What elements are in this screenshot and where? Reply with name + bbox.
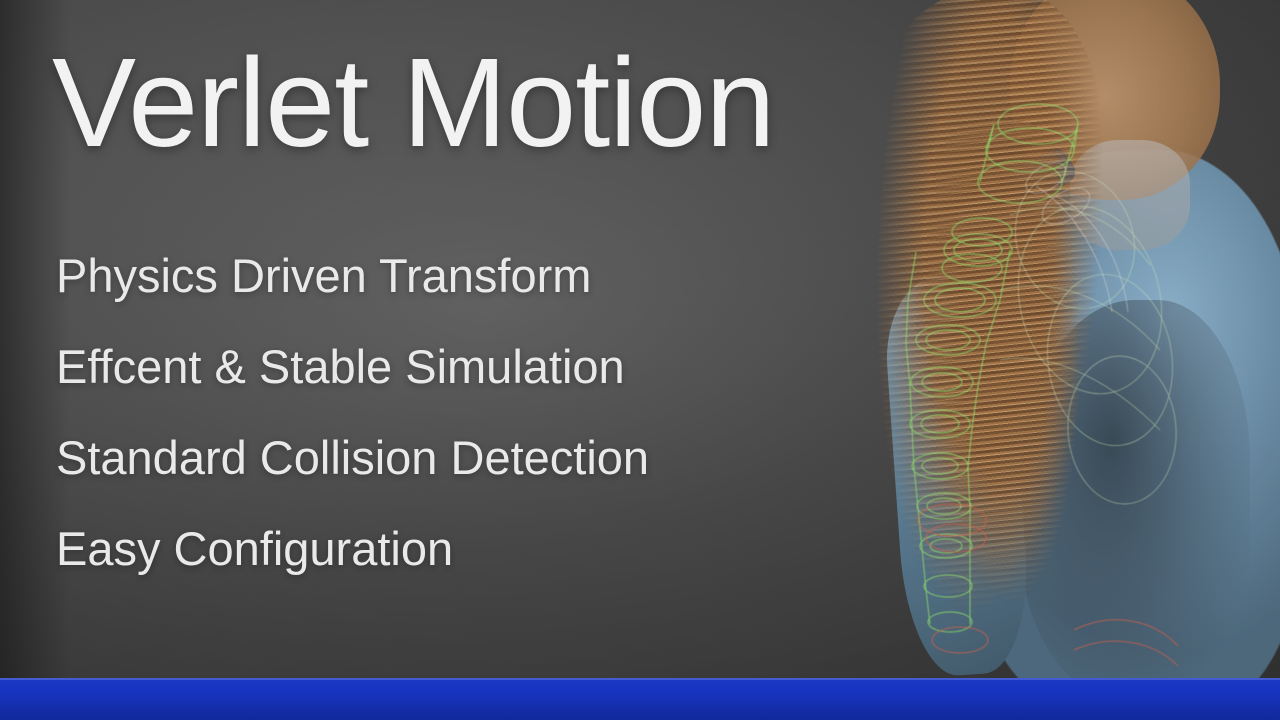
list-item: Effcent & Stable Simulation bbox=[56, 343, 649, 390]
character-artwork bbox=[860, 0, 1280, 680]
bullet-list: Physics Driven Transform Effcent & Stabl… bbox=[56, 252, 649, 572]
page-title: Verlet Motion bbox=[52, 40, 774, 166]
slide-canvas: Verlet Motion Physics Driven Transform E… bbox=[0, 0, 1280, 720]
list-item: Easy Configuration bbox=[56, 525, 649, 572]
bottom-accent-bar bbox=[0, 678, 1280, 720]
bottom-bar-highlight bbox=[0, 678, 1280, 680]
list-item: Physics Driven Transform bbox=[56, 252, 649, 299]
list-item: Standard Collision Detection bbox=[56, 434, 649, 481]
character-hair-front bbox=[911, 117, 1103, 623]
